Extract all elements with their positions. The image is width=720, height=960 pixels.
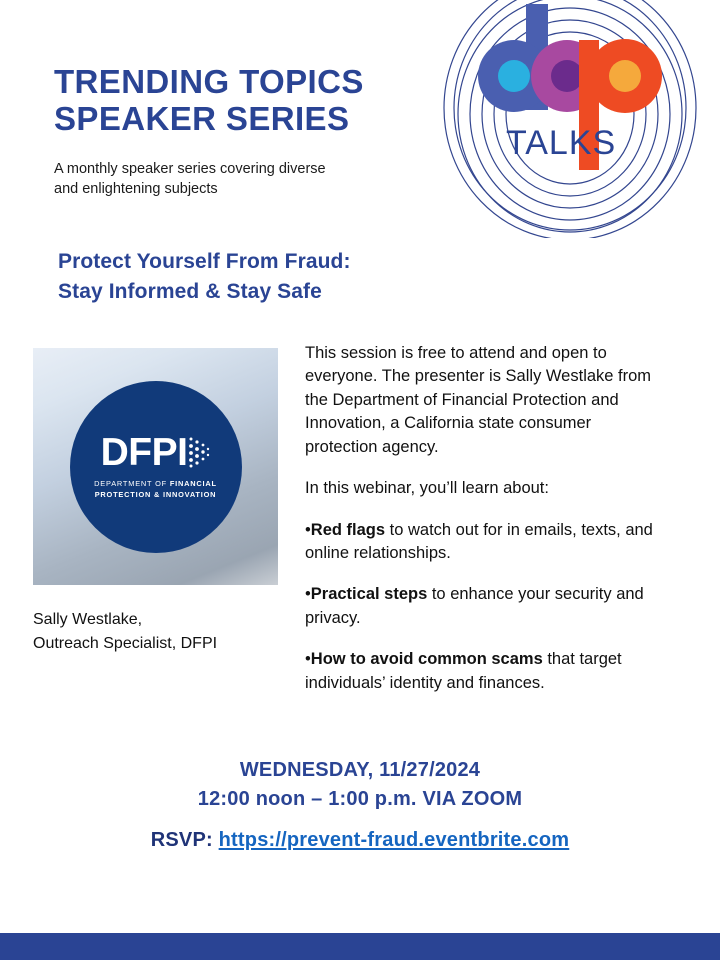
dap-talks-logo: TALKS: [420, 0, 720, 238]
bullet-bold-text: How to avoid common scams: [311, 650, 543, 668]
page-title-line-2: SPEAKER SERIES: [54, 101, 454, 138]
speaker-caption: Sally Westlake, Outreach Specialist, DFP…: [33, 608, 283, 656]
session-title-line-2: Stay Informed & Stay Safe: [58, 277, 488, 307]
speaker-image: DFPI DEPARTMENT OF FINANCIAL: [33, 348, 278, 585]
dfpi-logo-mark: DFPI: [101, 433, 211, 472]
list-item: •Practical steps to enhance your securit…: [305, 583, 660, 630]
rsvp-label: RSVP:: [151, 829, 219, 851]
list-item: •How to avoid common scams that target i…: [305, 648, 660, 695]
rsvp-block: RSVP: https://prevent-fraud.eventbrite.c…: [0, 829, 720, 852]
page-subtitle-line-1: A monthly speaker series covering divers…: [54, 160, 384, 180]
dap-talks-tagline: TALKS: [506, 124, 616, 162]
dfpi-dot-pattern-icon: [188, 435, 210, 469]
dfpi-logo-tagline: DEPARTMENT OF FINANCIAL PROTECTION & INN…: [94, 479, 217, 500]
dap-talks-logo-graphic: TALKS: [420, 0, 720, 238]
bullet-bold-text: Practical steps: [311, 585, 427, 603]
page-title: TRENDING TOPICS SPEAKER SERIES: [54, 64, 454, 138]
session-title: Protect Yourself From Fraud: Stay Inform…: [58, 247, 488, 307]
dfpi-tagline-line-1: DEPARTMENT OF FINANCIAL: [94, 479, 217, 490]
flyer-page: TRENDING TOPICS SPEAKER SERIES A monthly…: [0, 0, 720, 960]
rsvp-link[interactable]: https://prevent-fraud.eventbrite.com: [219, 829, 570, 851]
footer-bar: [0, 933, 720, 960]
speaker-name: Sally Westlake,: [33, 608, 283, 632]
intro-paragraph: This session is free to attend and open …: [305, 342, 660, 459]
learn-lead: In this webinar, you’ll learn about:: [305, 477, 660, 500]
bullet-bold-text: Red flags: [311, 521, 385, 539]
dfpi-tagline-bold: FINANCIAL: [170, 479, 217, 488]
dfpi-tagline-line-2: PROTECTION & INNOVATION: [94, 490, 217, 501]
page-title-line-1: TRENDING TOPICS: [54, 64, 454, 101]
session-title-line-1: Protect Yourself From Fraud:: [58, 247, 488, 277]
list-item: •Red flags to watch out for in emails, t…: [305, 519, 660, 566]
dfpi-acronym: DFPI: [101, 433, 188, 472]
event-date: WEDNESDAY, 11/27/2024: [0, 756, 720, 785]
dfpi-logo: DFPI DEPARTMENT OF FINANCIAL: [70, 381, 242, 553]
event-time: 12:00 noon – 1:00 p.m. VIA ZOOM: [0, 785, 720, 814]
body-copy: This session is free to attend and open …: [305, 342, 660, 713]
page-subtitle-line-2: and enlightening subjects: [54, 180, 384, 200]
event-datetime: WEDNESDAY, 11/27/2024 12:00 noon – 1:00 …: [0, 756, 720, 814]
ripple-rings-icon: [444, 0, 696, 238]
speaker-role: Outreach Specialist, DFPI: [33, 632, 283, 656]
dfpi-tagline-thin: DEPARTMENT OF: [94, 479, 170, 488]
page-subtitle: A monthly speaker series covering divers…: [54, 160, 384, 199]
